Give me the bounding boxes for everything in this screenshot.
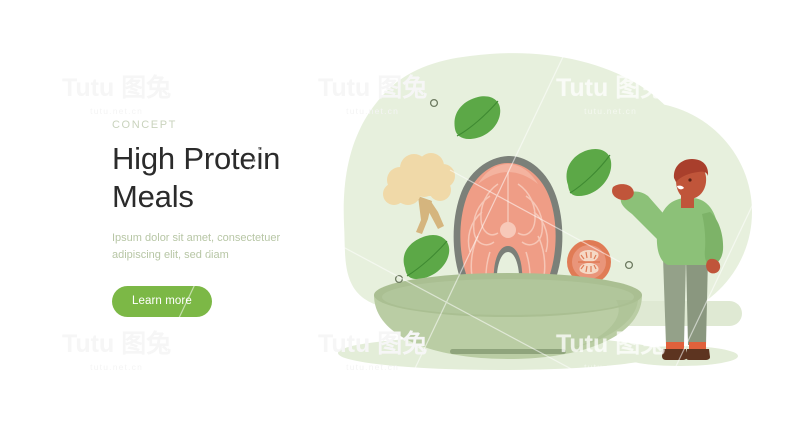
hero-text-column: CONCEPT High Protein Meals Ipsum dolor s… — [112, 120, 332, 317]
character-sock-right — [689, 342, 706, 349]
bowl-base — [450, 349, 566, 354]
hero-landing-page: CONCEPT High Protein Meals Ipsum dolor s… — [0, 0, 800, 421]
bowl-inner — [382, 279, 634, 315]
hero-subcopy: Ipsum dolor sit amet, consectetuer adipi… — [112, 230, 297, 264]
character-sock-left — [666, 342, 684, 349]
learn-more-button[interactable]: Learn more — [112, 286, 212, 317]
character-leg-right — [686, 257, 708, 345]
page-title-line-2: Meals — [112, 179, 194, 214]
character-leg-left — [663, 257, 686, 345]
character-shoe-left — [662, 349, 687, 360]
character-shoe-right — [686, 349, 710, 360]
page-title: High Protein Meals — [112, 140, 332, 216]
hero-eyebrow: CONCEPT — [112, 120, 332, 131]
character-eye — [688, 178, 691, 181]
page-title-line-1: High Protein — [112, 141, 280, 176]
